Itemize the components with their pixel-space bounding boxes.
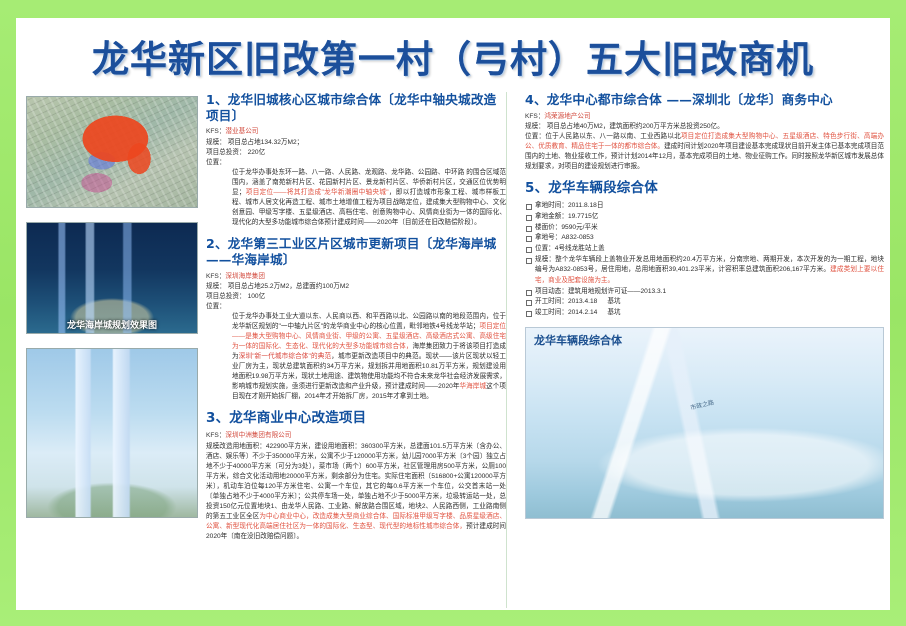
bullet-8-sub: 基坑: [597, 309, 620, 316]
sections-column-left: 1、龙华旧城核心区城市综合体〔龙华中轴央城改造项目〕 KFS：潜业基公司 规模：…: [198, 92, 506, 608]
section-4-kfs-label: KFS：: [525, 113, 544, 120]
section-2-row-investment: 项目总投资： 100亿: [206, 292, 506, 302]
section-5: 5、龙华车辆段综合体 拿地时间：2011.8.18日 拿地金额：19.7715亿…: [525, 180, 884, 318]
bullet-7-sub: 基坑: [597, 298, 620, 305]
image-caption-coast-city: 龙华海岸城规划效果图: [27, 318, 197, 331]
section-2-location-body: 位于龙华办事处工业大道以东、人民商以西、和平西路以北、公园路以南的地段范围内，位…: [206, 312, 506, 402]
bullet-4-value: 4号线龙胜站上盖: [555, 245, 605, 252]
section-4-scale-value: 项目总占地40万M2，建筑面积约200万平方米总投资250亿。: [547, 122, 884, 132]
image-column: 龙华海岸城规划效果图: [24, 92, 198, 608]
bullet-4-label: 位置：: [535, 245, 555, 252]
poster-inner: 龙华新区旧改第一村（弓村）五大旧改商机 龙华海岸城规划效果图 1、龙华旧城核心区…: [16, 18, 890, 610]
longhua-depot-complex-render: 龙华车辆段综合体 市政之路: [525, 327, 884, 519]
sections-column-right: 4、龙华中心都市综合体 ——深圳北〔龙华〕商务中心 KFS：鸿荣源地产公司 规模…: [506, 92, 884, 608]
section-4: 4、龙华中心都市综合体 ——深圳北〔龙华〕商务中心 KFS：鸿荣源地产公司 规模…: [525, 92, 884, 172]
longhua-coast-city-night-render: 龙华海岸城规划效果图: [26, 222, 198, 334]
section-1-scale-label: 规模：: [206, 138, 228, 148]
section-1-heading: 1、龙华旧城核心区城市综合体〔龙华中轴央城改造项目〕: [206, 92, 506, 123]
page-title: 龙华新区旧改第一村（弓村）五大旧改商机: [92, 29, 814, 83]
bullet-0-label: 拿地时间：: [535, 202, 568, 209]
section-2-scale-value: 项目总占地25.2万M2，总建面约100万M2: [228, 282, 506, 292]
image-caption-depot-complex: 龙华车辆段综合体: [534, 332, 622, 348]
section-5-bullet-list: 拿地时间：2011.8.18日 拿地金额：19.7715亿 楼面价：9590元/…: [525, 201, 884, 318]
list-item: 楼面价：9590元/平米: [525, 223, 884, 234]
section-2-investment-label: 项目总投资：: [206, 292, 248, 302]
section-1-row-scale: 规模： 项目总占地134.32万M2；: [206, 138, 506, 148]
bullet-0-value: 2011.8.18日: [568, 202, 603, 209]
list-item: 竣工时间：2014.2.14基坑: [525, 308, 884, 319]
section-2-location-highlight-3: 华海岸城: [460, 383, 487, 390]
section-4-kfs: KFS：鸿荣源地产公司: [525, 112, 884, 123]
bullet-8-label: 竣工时间：: [535, 309, 568, 316]
section-2-heading: 2、龙华第三工业区片区城市更新项目〔龙华海岸城——华海岸城〕: [206, 236, 506, 267]
section-5-heading: 5、龙华车辆段综合体: [525, 180, 884, 197]
section-2-kfs: KFS：深圳海岸集团: [206, 272, 506, 283]
section-1-kfs-label: KFS：: [206, 128, 225, 135]
bullet-7-value: 2013.4.18: [568, 298, 597, 305]
section-1-location-body: 位于龙华办事处东环一路、八一路、人民路、龙观路、龙华路、公园路、中环路 的围合区…: [206, 168, 506, 228]
bullet-6-label: 项目动态：: [535, 288, 568, 295]
list-item: 拿地时间：2011.8.18日: [525, 201, 884, 212]
section-1-location-label: 位置：: [206, 159, 226, 166]
section-2-row-scale: 规模： 项目总占地25.2万M2，总建面约100万M2: [206, 282, 506, 292]
bullet-7-label: 开工时间：: [535, 298, 568, 305]
section-2-scale-label: 规模：: [206, 282, 228, 292]
section-3: 3、龙华商业中心改造项目 KFS：深圳中洲集团有限公司 规模改造用地面积：422…: [206, 410, 506, 542]
section-2: 2、龙华第三工业区片区城市更新项目〔龙华海岸城——华海岸城〕 KFS：深圳海岸集…: [206, 236, 506, 402]
section-2-location-label: 位置：: [206, 303, 226, 310]
section-1-investment-value: 220亿: [248, 148, 506, 158]
section-2-location-highlight-2: 深圳"新一代城市综合体"的典范: [239, 353, 332, 360]
section-4-location-text-a: 位于人民路以东、八一路以南、工业西路以北: [545, 133, 681, 140]
poster-root: 龙华新区旧改第一村（弓村）五大旧改商机 龙华海岸城规划效果图 1、龙华旧城核心区…: [0, 0, 906, 626]
section-4-scale-label: 规模：: [525, 122, 547, 132]
section-2-kfs-label: KFS：: [206, 273, 225, 280]
section-2-location-text-a: 位于龙华办事处工业大道以东、人民商以西、和平西路以北、公园路以南的地段范围内，位…: [232, 313, 506, 330]
longhua-old-city-aerial-map: [26, 96, 198, 208]
section-1: 1、龙华旧城核心区城市综合体〔龙华中轴央城改造项目〕 KFS：潜业基公司 规模：…: [206, 92, 506, 228]
section-1-investment-label: 项目总投资：: [206, 148, 248, 158]
list-item: 项目动态：建筑用地规划许可证——2013.3.1: [525, 287, 884, 298]
section-4-location: 位置：位于人民路以东、八一路以南、工业西路以北项目定位打造成集大型购物中心、五星…: [525, 132, 884, 172]
section-2-investment-value: 100亿: [248, 292, 506, 302]
section-3-body-text: 规模改造用地面积：422900平方米，建设用地面积：360300平方米，总建面1…: [206, 443, 506, 520]
content-columns: 龙华海岸城规划效果图 1、龙华旧城核心区城市综合体〔龙华中轴央城改造项目〕 KF…: [16, 88, 890, 608]
section-4-heading: 4、龙华中心都市综合体 ——深圳北〔龙华〕商务中心: [525, 92, 884, 108]
bullet-3-label: 拿地号：: [535, 234, 561, 241]
section-2-kfs-value: 深圳海岸集团: [225, 273, 265, 280]
section-1-kfs-value: 潜业基公司: [225, 128, 258, 135]
bullet-3-value: A832-0853: [561, 234, 593, 241]
section-1-scale-value: 项目总占地134.32万M2；: [228, 138, 506, 148]
section-3-kfs-label: KFS：: [206, 432, 225, 439]
section-1-row-investment: 项目总投资： 220亿: [206, 148, 506, 158]
list-item: 开工时间：2013.4.18基坑: [525, 297, 884, 308]
image-mini-caption: 市政之路: [689, 397, 714, 412]
section-3-kfs-value: 深圳中洲集团有限公司: [225, 432, 291, 439]
list-item: 拿地号：A832-0853: [525, 233, 884, 244]
bullet-8-value: 2014.2.14: [568, 309, 597, 316]
bullet-1-value: 19.7715亿: [568, 213, 598, 220]
bullet-2-value: 9590元/平米: [561, 224, 597, 231]
section-3-kfs: KFS：深圳中洲集团有限公司: [206, 431, 506, 442]
section-1-location: 位置： 位于龙华办事处东环一路、八一路、人民路、龙观路、龙华路、公园路、中环路 …: [206, 158, 506, 228]
section-1-kfs: KFS：潜业基公司: [206, 127, 506, 138]
list-item: 位置：4号线龙胜站上盖: [525, 244, 884, 255]
list-item: 规模：整个龙华车辆段上盖物业开发总用地面积约20.4万平方米，分南宗地、两期开发…: [525, 255, 884, 287]
bullet-2-label: 楼面价：: [535, 224, 561, 231]
section-2-location: 位置： 位于龙华办事处工业大道以东、人民商以西、和平西路以北、公园路以南的地段范…: [206, 302, 506, 402]
section-3-body: 规模改造用地面积：422900平方米，建设用地面积：360300平方米，总建面1…: [206, 442, 506, 542]
list-item: 拿地金额：19.7715亿: [525, 212, 884, 223]
bullet-1-label: 拿地金额：: [535, 213, 568, 220]
bullet-5-label: 规模：: [535, 256, 555, 263]
section-3-heading: 3、龙华商业中心改造项目: [206, 410, 506, 427]
poster-title-bar: 龙华新区旧改第一村（弓村）五大旧改商机: [16, 18, 890, 88]
longhua-commercial-center-towers: [26, 348, 198, 518]
bullet-6-value: 建筑用地规划许可证——2013.3.1: [568, 288, 666, 295]
section-1-location-highlight: 项目定位——将其打造成"龙华新潮圈中轴央城": [246, 189, 389, 196]
section-4-kfs-value: 鸿荣源地产公司: [544, 113, 590, 120]
section-4-row-scale: 规模： 项目总占地40万M2，建筑面积约200万平方米总投资250亿。: [525, 122, 884, 132]
section-4-location-label: 位置：: [525, 133, 545, 140]
